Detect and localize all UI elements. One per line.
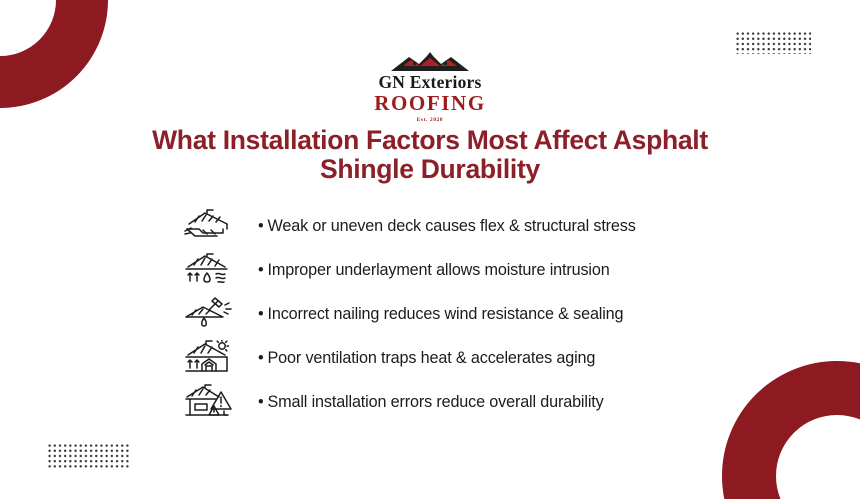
decor-dot-grid-bottom-left [47,443,129,470]
list-item: •Incorrect nailing reduces wind resistan… [178,292,738,336]
brand-established: Est. 2020 [417,117,443,123]
list-item-label: Weak or uneven deck causes flex & struct… [268,217,636,235]
list-item: •Poor ventilation traps heat & accelerat… [178,336,738,380]
bullet-marker: • [258,305,264,323]
list-item: •Improper underlayment allows moisture i… [178,248,738,292]
list-item: •Small installation errors reduce overal… [178,380,738,424]
list-item: •Weak or uneven deck causes flex & struc… [178,204,738,248]
list-item-label: Improper underlayment allows moisture in… [268,261,610,279]
hammer-nail-shingle-icon [178,297,240,331]
list-item-label: Incorrect nailing reduces wind resistanc… [268,305,624,323]
bullet-marker: • [258,393,264,411]
list-item-text: •Small installation errors reduce overal… [240,393,604,412]
infographic-canvas: GN Exteriors ROOFING Est. 2020 What Inst… [0,0,860,499]
brand-word: ROOFING [374,93,486,114]
bullet-list: •Weak or uneven deck causes flex & struc… [178,204,738,424]
list-item-text: •Improper underlayment allows moisture i… [240,261,610,280]
list-item-text: •Weak or uneven deck causes flex & struc… [240,217,636,236]
roof-moisture-droplet-icon [178,253,240,287]
page-title: What Installation Factors Most Affect As… [130,126,730,185]
list-item-label: Small installation errors reduce overall… [268,393,604,411]
house-sun-ventilation-icon [178,340,240,376]
brand-name: GN Exteriors [379,74,482,92]
house-warning-triangle-icon [178,384,240,420]
bullet-marker: • [258,217,264,235]
list-item-label: Poor ventilation traps heat & accelerate… [268,349,596,367]
bullet-marker: • [258,261,264,279]
roof-deck-shingle-layers-icon [178,209,240,243]
decor-ring-bottom-right [722,361,860,499]
list-item-text: •Incorrect nailing reduces wind resistan… [240,305,623,324]
bullet-marker: • [258,349,264,367]
list-item-text: •Poor ventilation traps heat & accelerat… [240,349,595,368]
brand-logo: GN Exteriors ROOFING Est. 2020 [0,50,860,123]
